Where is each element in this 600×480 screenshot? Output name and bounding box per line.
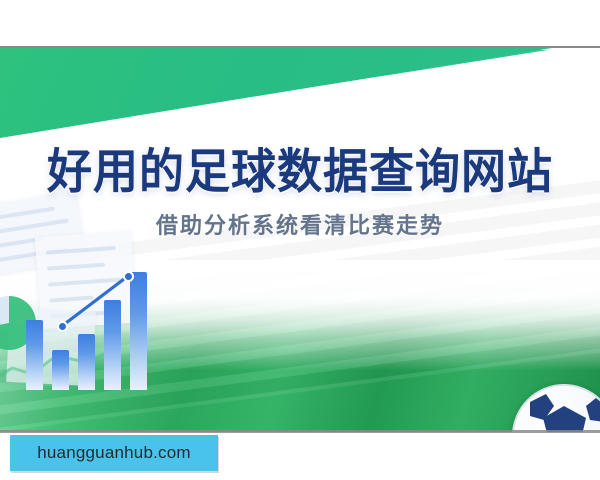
poster-root: 好用的足球数据查询网站 借助分析系统看清比赛走势 huangguanhub.co… <box>0 0 600 480</box>
banner-bottom-edge <box>0 430 600 433</box>
banner-image: 好用的足球数据查询网站 借助分析系统看清比赛走势 <box>0 46 600 432</box>
bar-chart-graphic <box>12 254 172 390</box>
chart-data-point <box>57 321 68 332</box>
page-title: 好用的足球数据查询网站 <box>0 147 600 198</box>
green-diagonal-band <box>0 48 600 148</box>
page-subtitle: 借助分析系统看清比赛走势 <box>0 208 600 240</box>
chart-trend-line <box>12 254 172 390</box>
watermark-badge[interactable]: huangguanhub.com <box>10 435 218 471</box>
watermark-text: huangguanhub.com <box>37 443 191 463</box>
chart-data-point <box>123 271 134 282</box>
headline-block: 好用的足球数据查询网站 借助分析系统看清比赛走势 <box>0 148 600 240</box>
